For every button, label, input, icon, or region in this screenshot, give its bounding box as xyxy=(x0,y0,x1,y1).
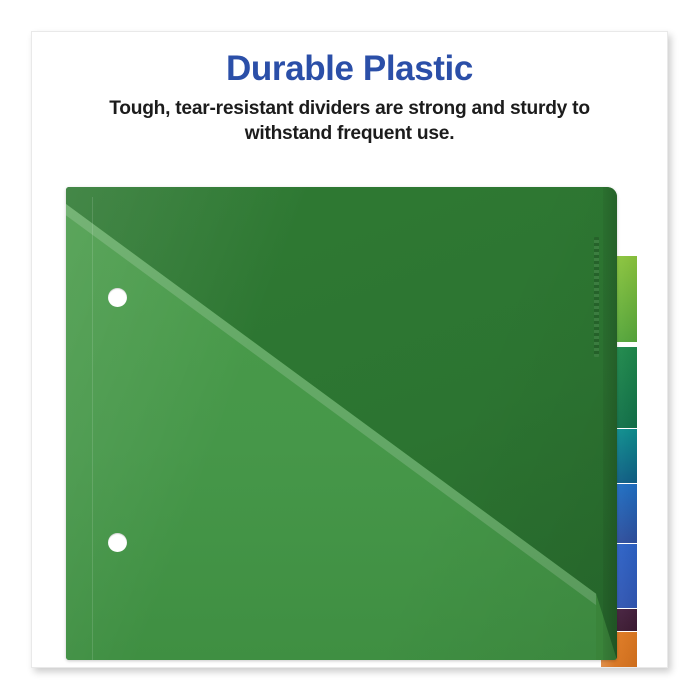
pocket-right-seal xyxy=(603,187,617,660)
binder-hole-bottom xyxy=(108,533,127,552)
product-card: Durable Plastic Tough, tear-resistant di… xyxy=(31,31,668,668)
plastic-pocket-divider xyxy=(66,187,617,660)
pocket-left-crease xyxy=(92,197,93,660)
page-subtitle: Tough, tear-resistant dividers are stron… xyxy=(67,97,633,146)
product-image-canvas: Durable Plastic Tough, tear-resistant di… xyxy=(0,0,700,700)
page-title: Durable Plastic xyxy=(32,49,667,88)
perforated-seam xyxy=(594,237,599,357)
binder-hole-top xyxy=(108,288,127,307)
headline-block: Durable Plastic Tough, tear-resistant di… xyxy=(32,49,667,146)
